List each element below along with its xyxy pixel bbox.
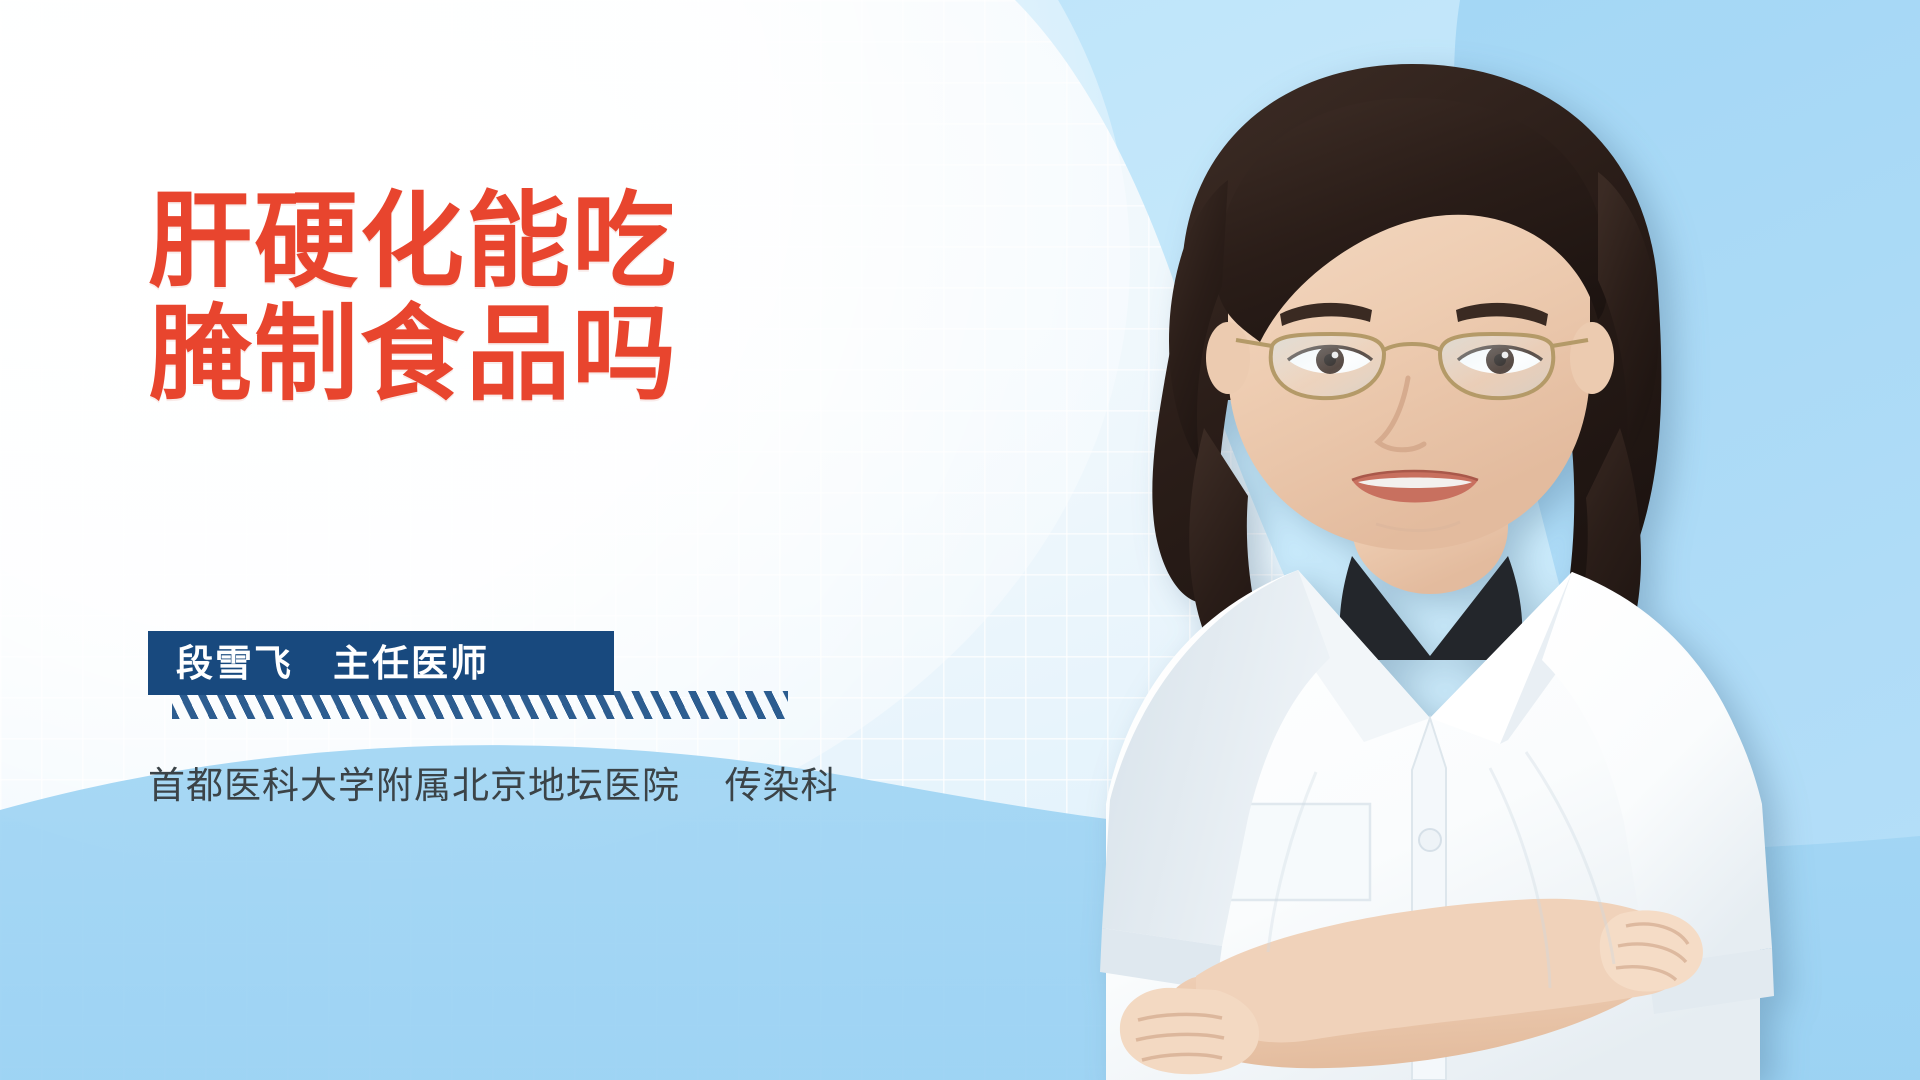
video-cover: 肝硬化能吃 腌制食品吗 段雪飞 主任医师 首都医科大学附属北京地坛医院 传染科 <box>0 0 1920 1080</box>
speaker-badge: 段雪飞 主任医师 <box>148 631 788 723</box>
affiliation-line: 首都医科大学附属北京地坛医院 传染科 <box>148 755 839 809</box>
hand-left <box>1120 988 1259 1074</box>
hospital-name: 首都医科大学附属北京地坛医院 <box>148 765 680 806</box>
headline: 肝硬化能吃 腌制食品吗 <box>148 186 968 412</box>
doctor-portrait-illustration <box>960 28 1920 1080</box>
badge-box: 段雪飞 主任医师 <box>148 631 614 695</box>
badge-hatch-decoration <box>172 691 788 719</box>
ear-right <box>1570 322 1614 394</box>
speaker-title: 主任医师 <box>333 645 489 682</box>
headline-line-1: 肝硬化能吃 <box>148 186 968 299</box>
department-name: 传染科 <box>725 765 839 806</box>
doctor-portrait <box>960 28 1920 1080</box>
headline-line-2: 腌制食品吗 <box>148 299 968 412</box>
coat-button-top <box>1419 829 1441 851</box>
speaker-name: 段雪飞 <box>176 645 293 682</box>
ear-left <box>1206 322 1250 394</box>
